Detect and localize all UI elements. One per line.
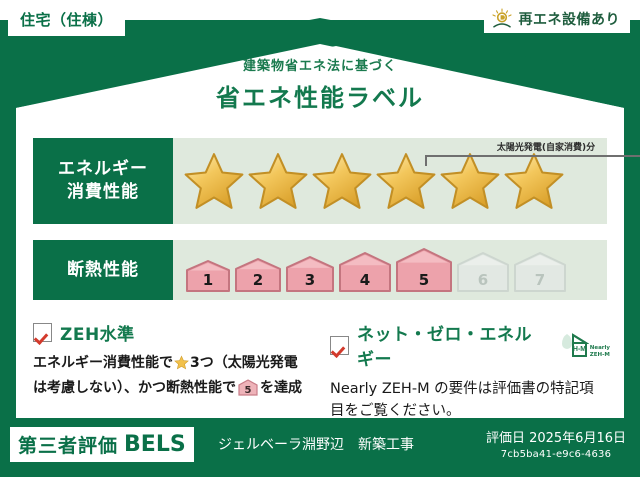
- insulation-level-value: 6: [478, 271, 488, 293]
- insulation-level-badge: 2: [234, 257, 282, 293]
- zeh-standard-title: ZEH水準: [60, 320, 135, 345]
- label-title-block: 建築物省エネ法に基づく 省エネ性能ラベル: [0, 55, 640, 113]
- zeh-desc-part2: 3つ（太陽光発電: [190, 355, 298, 371]
- insulation-level-badge: 6: [456, 251, 510, 293]
- energy-performance-label: 住宅（住棟） 再エネ設備あり 建築物省エネ法に基づく 省エネ性能ラベル エネルギ…: [0, 0, 640, 477]
- energy-performance-row-body: 太陽光発電(自家消費)分: [173, 138, 607, 224]
- building-type-tag: 住宅（住棟）: [8, 4, 125, 36]
- zeh-m-logo-caption: Nearly ZEH-M: [590, 345, 610, 358]
- net-zero-title-row: ネット・ゼロ・エネルギー H-M Nearly ZEH-M: [330, 320, 610, 370]
- inline-house-value: 5: [238, 383, 258, 399]
- insulation-performance-row-body: 1234567: [173, 240, 607, 300]
- net-zero-description: Nearly ZEH-M の要件は評価書の特記項 目をご覧ください。: [330, 378, 610, 423]
- energy-label-line1: エネルギー: [58, 158, 148, 181]
- insulation-level-value: 3: [305, 271, 315, 293]
- checkbox-checked-icon-2: [330, 336, 349, 355]
- energy-label-line2: 消費性能: [67, 181, 139, 204]
- insulation-performance-row-header: 断熱性能: [33, 240, 173, 300]
- zeh-standard-description: エネルギー消費性能で 3つ（太陽光発電 は考慮しない）、かつ断熱性能で 5 を達…: [33, 353, 313, 403]
- energy-performance-row: エネルギー 消費性能 太陽光発電(自家消費)分: [33, 138, 607, 224]
- star-icon: [247, 150, 309, 212]
- insulation-level-badge: 1: [185, 259, 231, 293]
- net-zero-desc-line2: 目をご覧ください。: [330, 400, 610, 422]
- evaluation-date: 評価日 2025年6月16日: [486, 427, 626, 446]
- zeh-standard-title-row: ZEH水準: [33, 320, 313, 345]
- svg-text:H-M: H-M: [573, 346, 586, 353]
- zeh-m-house-icon: H-M: [555, 332, 589, 358]
- insulation-level-value: 1: [203, 271, 213, 293]
- evaluation-info: 評価日 2025年6月16日 7cb5ba41-e9c6-4636: [486, 427, 626, 460]
- title-subtitle: 建築物省エネ法に基づく: [0, 55, 640, 74]
- zeh-desc-part3: は考慮しない）、かつ断熱性能で: [33, 380, 236, 396]
- insulation-level-badge: 5: [395, 247, 453, 293]
- bels-prefix-label: 第三者評価: [18, 431, 118, 458]
- zeh-m-caption-line2: ZEH-M: [590, 352, 610, 358]
- star-icon: [311, 150, 373, 212]
- label-footer: 第三者評価 BELS ジェルベーラ淵野辺 新築工事 評価日 2025年6月16日…: [0, 421, 640, 477]
- insulation-level-badge: 3: [285, 255, 335, 293]
- zeh-desc-part1: エネルギー消費性能で: [33, 355, 173, 371]
- inline-star-icon: [174, 355, 189, 378]
- insulation-level-value: 2: [253, 271, 263, 293]
- solar-bracket: [425, 155, 640, 166]
- insulation-performance-row: 断熱性能 1234567: [33, 240, 607, 300]
- net-zero-desc-line1: Nearly ZEH-M の要件は評価書の特記項: [330, 378, 610, 400]
- net-zero-energy-block: ネット・ゼロ・エネルギー H-M Nearly ZEH-M Nearly ZEH…: [330, 320, 610, 423]
- inline-house-badge-icon: 5: [238, 379, 258, 404]
- insulation-label: 断熱性能: [67, 259, 139, 282]
- building-name: ジェルベーラ淵野辺 新築工事: [218, 434, 414, 454]
- renewable-energy-label: 再エネ設備あり: [519, 9, 621, 29]
- insulation-level-value: 7: [535, 271, 545, 293]
- star-icon: [183, 150, 245, 212]
- checkbox-checked-icon: [33, 323, 52, 342]
- bels-name-label: BELS: [124, 432, 186, 457]
- page-title: 省エネ性能ラベル: [0, 78, 640, 113]
- insulation-level-badge: 7: [513, 251, 567, 293]
- zeh-m-caption-line1: Nearly: [590, 345, 610, 351]
- bels-badge: 第三者評価 BELS: [10, 427, 194, 462]
- sun-icon: [490, 8, 514, 30]
- zeh-standard-block: ZEH水準 エネルギー消費性能で 3つ（太陽光発電 は考慮しない）、かつ断熱性能…: [33, 320, 313, 403]
- renewable-energy-tag: 再エネ設備あり: [484, 5, 631, 33]
- insulation-level-badge: 4: [338, 251, 392, 293]
- energy-performance-row-header: エネルギー 消費性能: [33, 138, 173, 224]
- evaluation-id: 7cb5ba41-e9c6-4636: [486, 449, 626, 460]
- insulation-level-scale: 1234567: [173, 247, 567, 293]
- zeh-m-logo: H-M Nearly ZEH-M: [555, 332, 610, 358]
- insulation-level-value: 5: [419, 271, 429, 293]
- insulation-level-value: 4: [360, 271, 370, 293]
- solar-generation-note: 太陽光発電(自家消費)分: [423, 140, 640, 153]
- net-zero-title: ネット・ゼロ・エネルギー: [357, 320, 543, 370]
- zeh-desc-part4: を達成: [260, 380, 302, 396]
